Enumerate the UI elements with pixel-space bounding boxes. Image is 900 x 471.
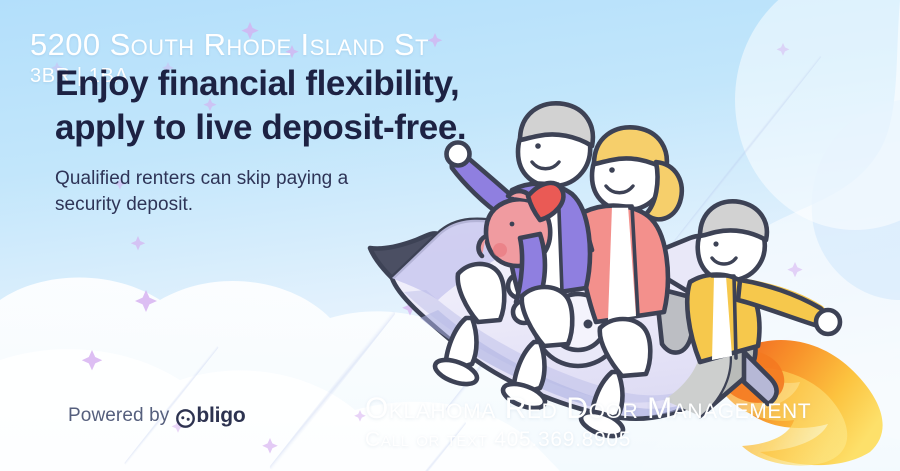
obligo-face-icon — [176, 409, 195, 428]
hand-yellow — [816, 310, 840, 334]
offer-copy: Enjoy financial flexibility, apply to li… — [55, 62, 466, 218]
headline-line-2: apply to live deposit-free. — [55, 106, 466, 150]
powered-by-obligo: Powered by bligo — [68, 404, 246, 428]
subheadline-line-2: security deposit. — [55, 192, 466, 218]
obligo-wordmark-text: bligo — [196, 404, 245, 428]
headline-line-1: Enjoy financial flexibility, — [55, 62, 466, 106]
powered-by-label: Powered by — [68, 405, 169, 427]
subheadline-line-1: Qualified renters can skip paying a — [55, 166, 466, 192]
obligo-logo: bligo — [176, 404, 245, 428]
character-yellow — [687, 201, 840, 362]
porthole-eye-right — [584, 320, 593, 329]
rental-ad-banner: 5200 South Rhode Island St 3BR | 1BA Enj… — [0, 0, 900, 471]
